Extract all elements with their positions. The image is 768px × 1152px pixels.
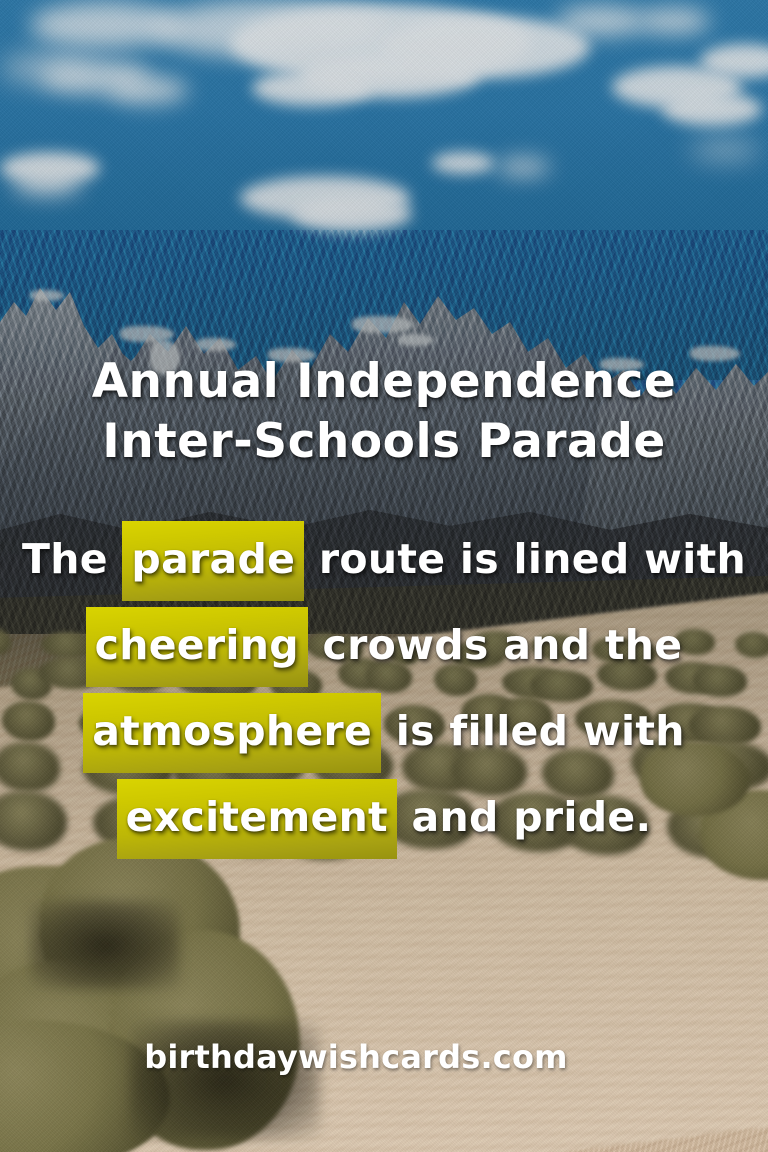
message-line-3: atmosphere is filled with [0, 688, 768, 774]
message-text: is filled with [381, 707, 685, 755]
message-text: The [22, 535, 122, 583]
message-text: route is lined with [304, 535, 746, 583]
title-block: Annual Independence Inter-Schools Parade [0, 352, 768, 472]
message-block: The parade route is lined withcheering c… [0, 516, 768, 860]
title-line-1: Annual Independence [0, 352, 768, 412]
message-line-2: cheering crowds and the [0, 602, 768, 688]
poster-card: Annual Independence Inter-Schools Parade… [0, 0, 768, 1152]
highlighted-word: parade [122, 521, 304, 601]
message-text: crowds and the [308, 621, 682, 669]
highlighted-word: atmosphere [83, 693, 381, 773]
message-line-4: excitement and pride. [0, 774, 768, 860]
footer: birthdaywishcards.com [0, 1038, 768, 1076]
highlighted-word: cheering [86, 607, 308, 687]
message-line-1: The parade route is lined with [0, 516, 768, 602]
title-line-2: Inter-Schools Parade [0, 412, 768, 472]
highlighted-word: excitement [117, 779, 397, 859]
message-text: and pride. [397, 793, 651, 841]
site-watermark: birthdaywishcards.com [144, 1038, 567, 1076]
text-content: Annual Independence Inter-Schools Parade… [0, 0, 768, 1152]
